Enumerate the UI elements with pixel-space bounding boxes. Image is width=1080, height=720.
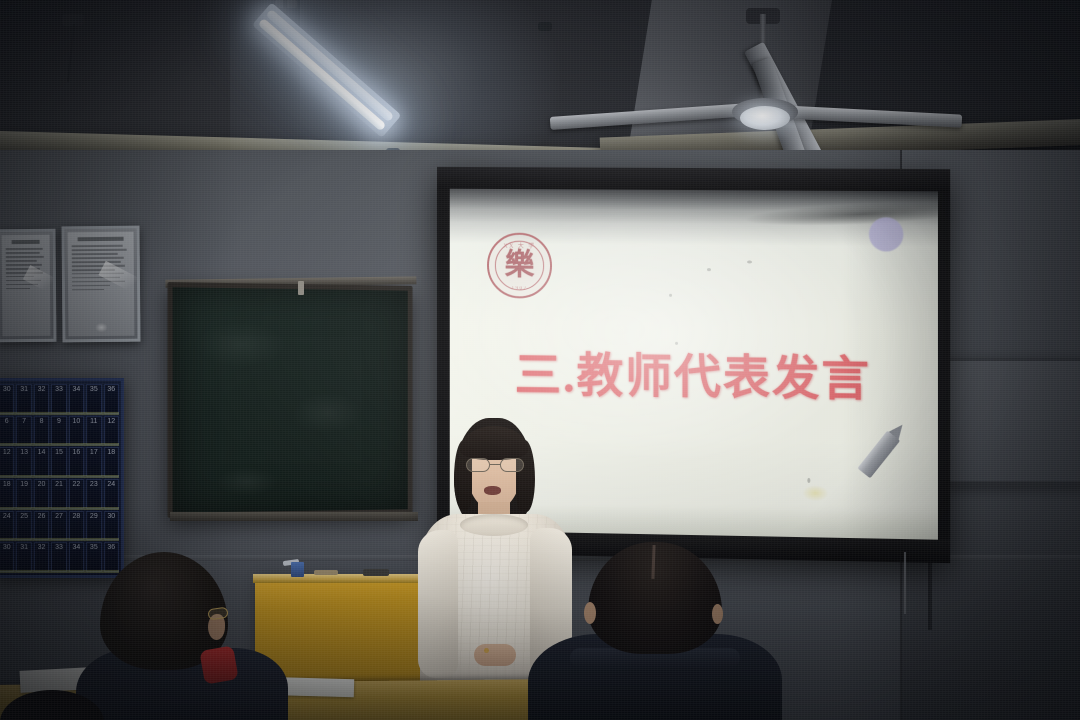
notice-board-right[interactable] bbox=[61, 226, 140, 343]
pocket-chart-cell[interactable]: 10 bbox=[69, 416, 84, 446]
screen-smudge bbox=[802, 485, 828, 502]
pocket-chart-cell[interactable]: 15 bbox=[51, 447, 66, 477]
pocket-chart-cell[interactable]: 36 bbox=[104, 384, 119, 414]
pocket-chart-cell[interactable]: 21 bbox=[51, 479, 66, 509]
speaker-collar bbox=[460, 514, 528, 536]
pocket-chart-cell[interactable]: 30 bbox=[0, 384, 14, 414]
pocket-chart-cell[interactable]: 32 bbox=[34, 542, 49, 572]
pencil-icon bbox=[857, 420, 908, 479]
pocket-chart-row: 6789101112 bbox=[0, 416, 119, 446]
chalkboard-tray bbox=[170, 512, 418, 521]
pocket-chart-cell[interactable]: 11 bbox=[86, 416, 101, 446]
audience-foreground-hair bbox=[0, 690, 104, 720]
pocket-chart-cell[interactable]: 30 bbox=[0, 542, 14, 572]
pocket-chart-cell[interactable]: 33 bbox=[51, 542, 66, 572]
pocket-chart-cell[interactable]: 25 bbox=[16, 511, 31, 541]
eraser-icon[interactable] bbox=[363, 569, 389, 576]
numbered-pocket-chart[interactable]: 3031323334353667891011121213141516171818… bbox=[0, 378, 124, 578]
notice-heading bbox=[12, 240, 40, 244]
slide-title: 三.教师代表发言 bbox=[450, 335, 938, 410]
ceiling-hook-icon bbox=[538, 22, 552, 31]
pocket-chart-cell[interactable]: 13 bbox=[16, 447, 31, 477]
pocket-chart-cell[interactable]: 14 bbox=[34, 447, 49, 477]
screen-top-frame bbox=[437, 167, 950, 192]
speaker-arm-left bbox=[418, 530, 458, 678]
university-seal-icon: XX 大 学 樂 1902 bbox=[487, 233, 552, 299]
audience-right-ear-left bbox=[584, 602, 596, 624]
pocket-chart-cell[interactable]: 23 bbox=[86, 479, 101, 509]
pocket-chart-row: 12131415161718 bbox=[0, 447, 119, 477]
pocket-chart-row: 18192021222324 bbox=[0, 479, 119, 509]
pocket-chart-cell[interactable]: 29 bbox=[86, 511, 101, 541]
pocket-chart-cell[interactable]: 31 bbox=[16, 384, 31, 414]
whiteboard-tray bbox=[938, 482, 1080, 487]
whiteboard[interactable] bbox=[940, 358, 1080, 484]
pocket-chart-cell[interactable]: 22 bbox=[69, 479, 84, 509]
glasses-bridge bbox=[490, 464, 500, 465]
pocket-chart-cell[interactable]: 24 bbox=[104, 479, 119, 509]
classroom-scene: 3031323334353667891011121213141516171818… bbox=[0, 0, 1080, 720]
audience-member-right bbox=[540, 542, 770, 720]
pocket-chart-cell[interactable]: 34 bbox=[69, 384, 84, 414]
pocket-chart-cell[interactable]: 6 bbox=[0, 416, 14, 446]
glasses-lens-right bbox=[500, 458, 524, 472]
glass-highlight bbox=[96, 323, 108, 332]
pocket-chart-row: 30313233343536 bbox=[0, 384, 119, 414]
chalkboard-clip-icon bbox=[298, 281, 304, 295]
pocket-chart-cell[interactable]: 20 bbox=[34, 479, 49, 509]
pocket-chart-cell[interactable]: 30 bbox=[104, 511, 119, 541]
pocket-chart-cell[interactable]: 9 bbox=[51, 416, 66, 446]
pocket-chart-row: 24252627282930 bbox=[0, 511, 119, 541]
fan-light-icon bbox=[740, 106, 790, 130]
chalk-box-icon[interactable] bbox=[291, 562, 304, 577]
pocket-chart-cell[interactable]: 8 bbox=[34, 416, 49, 446]
screen-pull-cord[interactable] bbox=[904, 552, 906, 614]
pocket-chart-cell[interactable]: 16 bbox=[69, 447, 84, 477]
notice-heading bbox=[78, 237, 124, 241]
pocket-chart-cell[interactable]: 33 bbox=[51, 384, 66, 414]
pencil-body bbox=[857, 431, 900, 479]
pocket-chart-cell[interactable]: 27 bbox=[51, 511, 66, 541]
pocket-chart-cell[interactable]: 12 bbox=[104, 416, 119, 446]
pocket-chart-cell[interactable]: 7 bbox=[16, 416, 31, 446]
glasses-lens-left bbox=[466, 458, 490, 472]
pocket-chart-cell[interactable]: 35 bbox=[86, 384, 101, 414]
notice-board-left[interactable] bbox=[0, 229, 56, 343]
pocket-chart-cell[interactable]: 18 bbox=[104, 447, 119, 477]
speaker-ring-icon bbox=[484, 648, 489, 653]
pocket-chart-cell[interactable]: 28 bbox=[69, 511, 84, 541]
audience-right-ear-right bbox=[712, 604, 723, 624]
audience-left-red-scarf bbox=[199, 645, 238, 684]
pocket-chart-cell[interactable]: 26 bbox=[34, 511, 49, 541]
pocket-chart-cell[interactable]: 12 bbox=[0, 447, 14, 477]
pocket-chart-cell[interactable]: 17 bbox=[86, 447, 101, 477]
speaker-mouth bbox=[484, 486, 501, 495]
pocket-chart-cell[interactable]: 19 bbox=[16, 479, 31, 509]
pocket-chart-cell[interactable]: 31 bbox=[16, 542, 31, 572]
speaker-hands bbox=[474, 644, 516, 666]
speaker-glasses-icon bbox=[466, 458, 524, 472]
chalkboard[interactable] bbox=[168, 282, 413, 518]
pocket-chart-cell[interactable]: 24 bbox=[0, 511, 14, 541]
chalk-stick-icon[interactable] bbox=[314, 570, 338, 575]
audience-member-foreground bbox=[0, 690, 140, 720]
pocket-chart-cell[interactable]: 18 bbox=[0, 479, 14, 509]
pocket-chart-cell[interactable]: 32 bbox=[34, 384, 49, 414]
seal-arc-bottom: 1902 bbox=[489, 286, 550, 292]
purple-circle-icon bbox=[869, 217, 903, 252]
